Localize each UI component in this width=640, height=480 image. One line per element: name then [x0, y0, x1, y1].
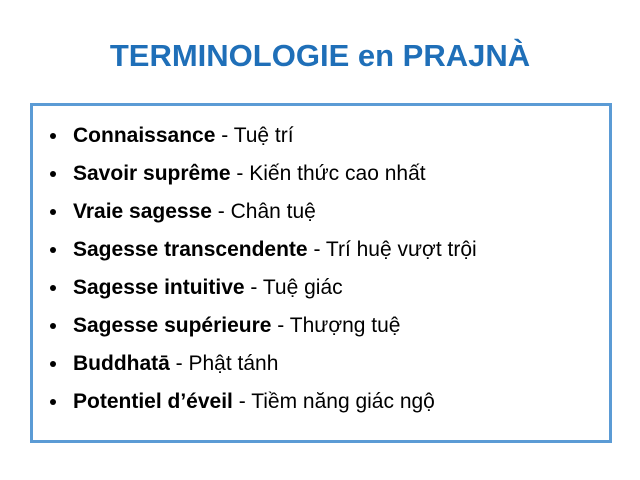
list-item: Connaissance - Tuệ trí: [33, 117, 609, 155]
separator-label: -: [233, 390, 251, 413]
separator-label: -: [245, 276, 263, 299]
bullet-dot-icon: [50, 209, 56, 215]
separator-label: -: [231, 162, 250, 185]
bullet-dot-icon: [50, 133, 56, 139]
list-item: Sagesse transcendente - Trí huệ vượt trộ…: [33, 231, 609, 269]
separator-label: -: [215, 124, 233, 147]
terminology-list: Connaissance - Tuệ trí Savoir suprême - …: [33, 106, 609, 421]
list-item: Sagesse intuitive - Tuệ giác: [33, 269, 609, 307]
gloss-label: Tiềm năng giác ngộ: [251, 390, 435, 413]
bullet-dot-icon: [50, 247, 56, 253]
term-label: Potentiel d’éveil: [73, 390, 233, 413]
bullet-dot-icon: [50, 323, 56, 329]
gloss-label: Phật tánh: [189, 352, 279, 375]
separator-label: -: [271, 314, 289, 337]
term-label: Buddhatā: [73, 352, 170, 375]
term-label: Savoir suprême: [73, 162, 231, 185]
bullet-dot-icon: [50, 171, 56, 177]
slide: TERMINOLOGIE en PRAJNÀ Connaissance - Tu…: [0, 0, 640, 480]
separator-label: -: [308, 238, 326, 261]
gloss-label: Trí huệ vượt trội: [326, 238, 477, 261]
gloss-label: Chân tuệ: [231, 200, 316, 223]
list-item: Savoir suprême - Kiến thức cao nhất: [33, 155, 609, 193]
list-item: Vraie sagesse - Chân tuệ: [33, 193, 609, 231]
term-label: Sagesse intuitive: [73, 276, 245, 299]
term-label: Vraie sagesse: [73, 200, 212, 223]
bullet-dot-icon: [50, 285, 56, 291]
separator-label: -: [212, 200, 231, 223]
gloss-label: Tuệ trí: [234, 124, 294, 147]
term-label: Sagesse supérieure: [73, 314, 271, 337]
list-item: Potentiel d’éveil - Tiềm năng giác ngộ: [33, 383, 609, 421]
term-label: Connaissance: [73, 124, 215, 147]
separator-label: -: [170, 352, 189, 375]
bullet-dot-icon: [50, 361, 56, 367]
list-item: Sagesse supérieure - Thượng tuệ: [33, 307, 609, 345]
list-item: Buddhatā - Phật tánh: [33, 345, 609, 383]
gloss-label: Thượng tuệ: [290, 314, 401, 337]
term-label: Sagesse transcendente: [73, 238, 308, 261]
page-title: TERMINOLOGIE en PRAJNÀ: [0, 38, 640, 74]
gloss-label: Kiến thức cao nhất: [249, 162, 425, 185]
terminology-box: Connaissance - Tuệ trí Savoir suprême - …: [30, 103, 612, 443]
gloss-label: Tuệ giác: [263, 276, 343, 299]
bullet-dot-icon: [50, 399, 56, 405]
